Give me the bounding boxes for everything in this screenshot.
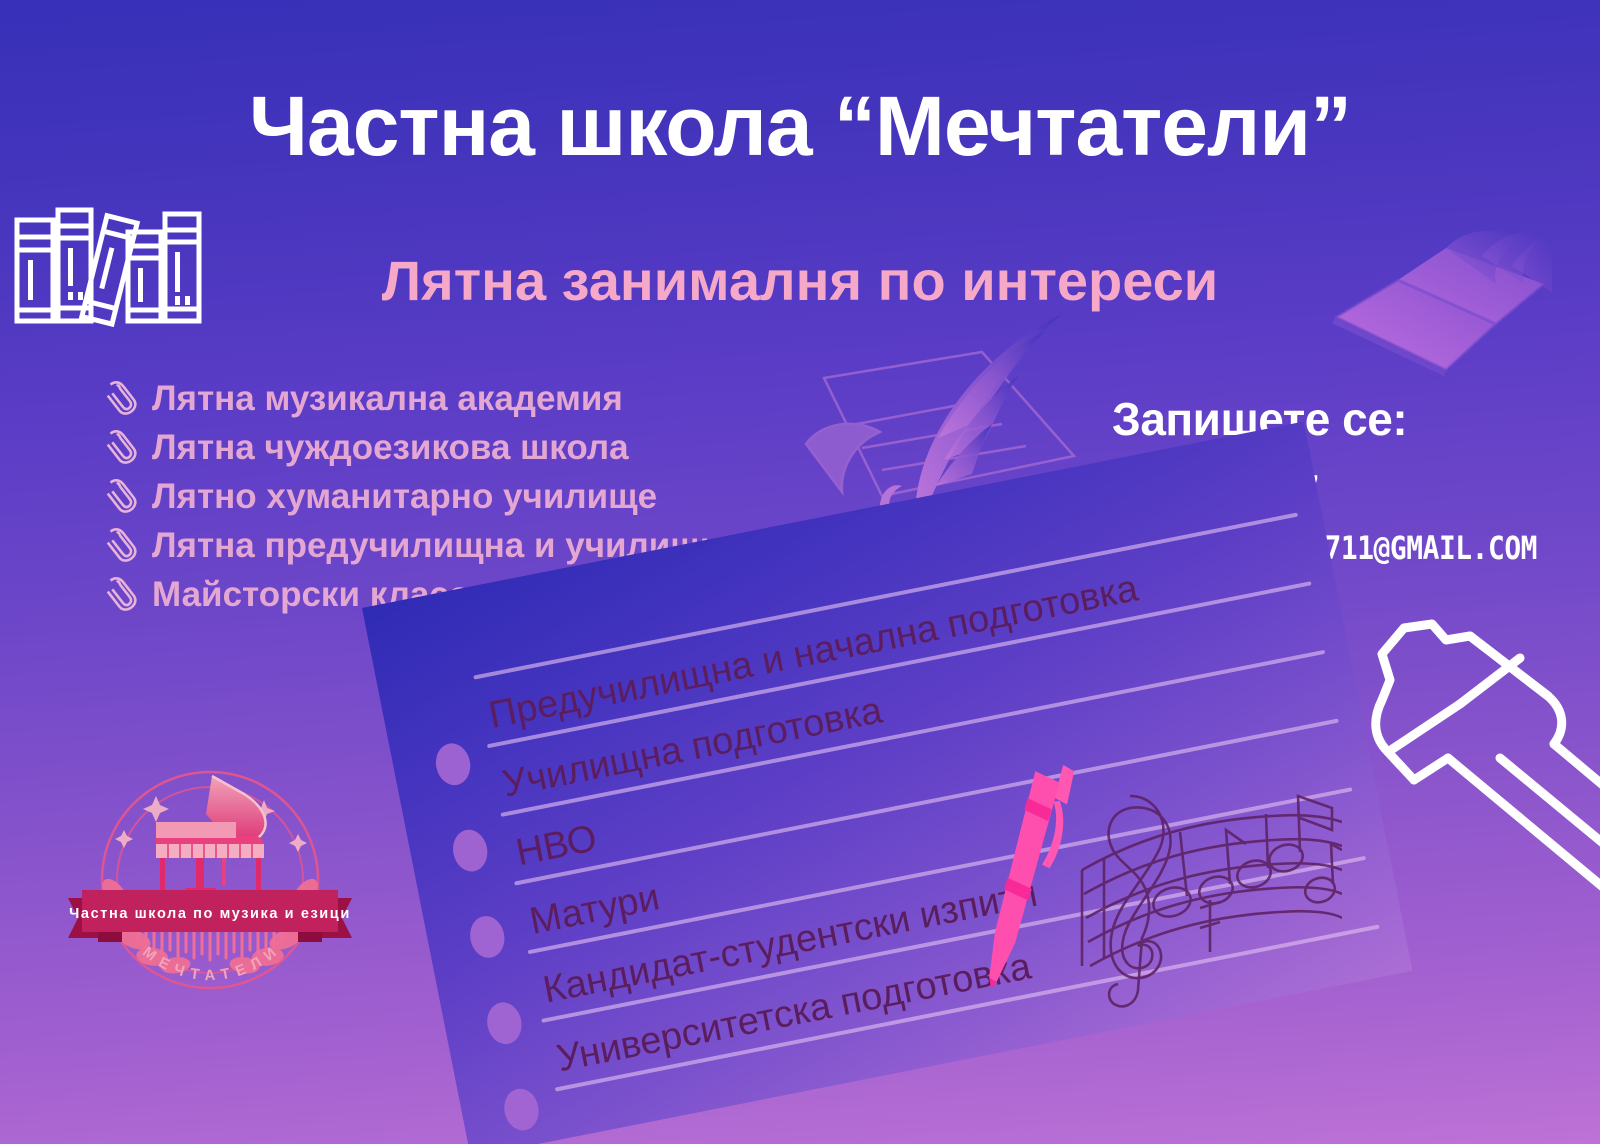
school-logo: МЕЧТАТЕЛИ Частна школа по музика и езици <box>60 748 360 1016</box>
paperclip-icon <box>96 524 140 568</box>
poster-title: Частна школа “Мечтатели” <box>0 78 1600 175</box>
notepad-hole <box>467 913 509 961</box>
notepad-hole <box>501 1086 543 1134</box>
paperclip-icon <box>96 377 140 421</box>
paperclip-icon <box>96 475 140 519</box>
enroll-heading: Запишете се: <box>1112 392 1542 446</box>
paperclip-icon <box>96 573 140 617</box>
list-item-label: Лятно хуманитарно училище <box>152 479 657 514</box>
list-item-label: Лятна музикална академия <box>152 381 623 416</box>
paperclip-icon <box>96 426 140 470</box>
open-book-icon <box>1296 222 1552 377</box>
poster-canvas: Частна школа “Мечтатели” Лятна занималня… <box>0 0 1600 1144</box>
logo-ribbon-text: Частна школа по музика и езици <box>69 906 351 922</box>
notepad-hole <box>432 740 474 788</box>
notepad-hole <box>449 827 491 875</box>
notepad-hole <box>484 999 526 1047</box>
list-item-label: Лятна чуждоезикова школа <box>152 430 629 465</box>
pink-pen-icon <box>944 752 1094 992</box>
